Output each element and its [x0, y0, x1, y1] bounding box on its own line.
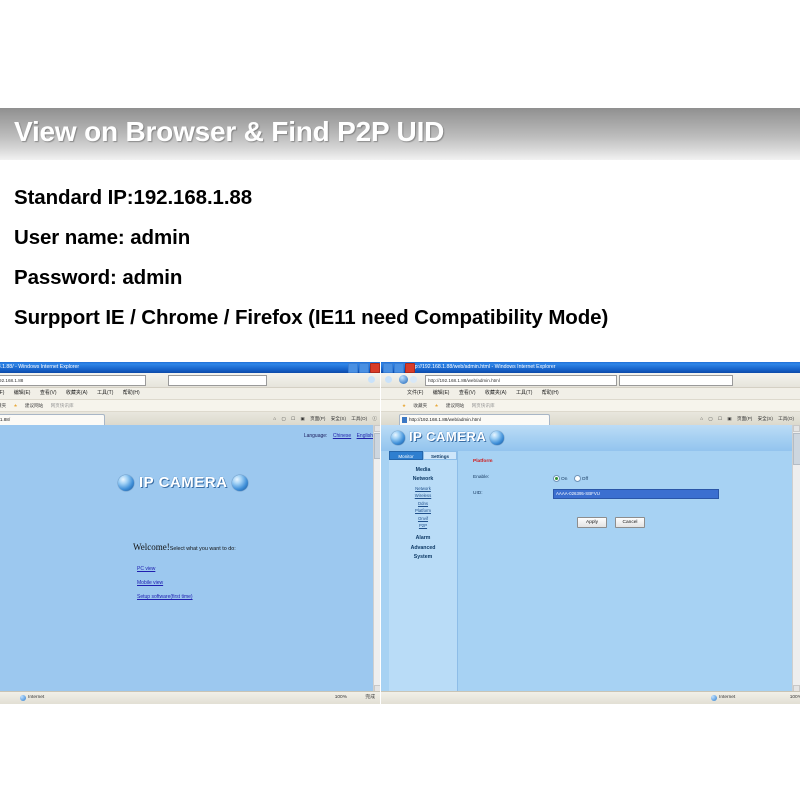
cancel-button[interactable]: Cancel: [615, 517, 645, 528]
menu-item-help[interactable]: 帮助(H): [119, 388, 144, 399]
welcome-rest: Select what you want to do:: [170, 546, 236, 552]
tab-label: 192.168.1.88/: [0, 417, 10, 422]
tab-favicon-icon-right: [402, 417, 407, 423]
forward-icon-right[interactable]: [410, 376, 417, 383]
uid-label: UID:: [473, 491, 483, 496]
right-status-bar: Internet 100%: [381, 691, 800, 704]
left-status-bar: Internet 100% 完成: [0, 691, 381, 704]
sidebar-tabs: Monitor Settings: [389, 451, 457, 460]
right-title-bar: http://192.168.1.88/web/admin.html - Win…: [381, 362, 800, 373]
right-window-controls[interactable]: [383, 363, 415, 373]
menu-item-help-right[interactable]: 帮助(H): [538, 388, 563, 399]
suggested-sites[interactable]: 建议网站: [22, 400, 46, 411]
cmd-safety-right[interactable]: 安全(S): [756, 416, 775, 421]
info-line-standard-ip: Standard IP:192.168.1.88: [14, 186, 794, 210]
left-menu-bar[interactable]: 文件(F) 编辑(E) 查看(V) 收藏夹(A) 工具(T) 帮助(H): [0, 388, 381, 400]
language-link-english[interactable]: English: [357, 433, 373, 439]
welcome-bold: Welcome!: [133, 542, 170, 552]
uid-input[interactable]: AAAA-026395-SBFVU: [553, 489, 719, 499]
star-icon-right-2: ★: [431, 400, 441, 411]
cmd-tools-right[interactable]: 工具(O): [776, 416, 796, 421]
radio-off[interactable]: [574, 475, 581, 482]
left-window-controls[interactable]: [348, 363, 380, 373]
left-title-bar: 168.1.88/ - Windows Internet Explorer: [0, 362, 381, 373]
menu-item-view[interactable]: 查看(V): [36, 388, 61, 399]
header-banner: View on Browser & Find P2P UID: [0, 108, 800, 160]
sidebar-subitem-network[interactable]: Network: [389, 486, 457, 491]
menu-item-favorites[interactable]: 收藏夹(A): [62, 388, 92, 399]
browser-tab-right[interactable]: http://192.168.1.88/web/admin.html: [399, 414, 550, 425]
menu-item-view-right[interactable]: 查看(V): [455, 388, 480, 399]
maximize-button-right[interactable]: [394, 363, 404, 373]
left-favorites-bar[interactable]: ★ 收藏夹 ★ 建议网站 网页快讯库: [0, 400, 381, 412]
scroll-up-icon-right[interactable]: [793, 425, 800, 432]
sidebar-subitem-ddns[interactable]: Ddns: [389, 501, 457, 506]
internet-zone-icon: [20, 695, 26, 701]
window-divider: [380, 362, 381, 704]
cmd-safety[interactable]: 安全(S): [329, 416, 348, 421]
language-label: Language:: [304, 433, 328, 439]
feeds-icon[interactable]: ▢: [279, 416, 287, 421]
right-tab-bar: http://192.168.1.88/web/admin.html ⌂ ▢ ☐…: [381, 412, 800, 426]
menu-item-edit[interactable]: 编辑(E): [10, 388, 35, 399]
info-line-username: User name: admin: [14, 226, 794, 250]
favorites-label[interactable]: 收藏夹: [0, 400, 9, 411]
search-icon-right[interactable]: [385, 376, 392, 383]
camera-sidebar: Monitor Settings Media Network Network W…: [389, 451, 458, 692]
right-page-viewport: IP CAMERA Monitor Settings Media Network…: [381, 425, 800, 692]
right-command-bar[interactable]: ⌂ ▢ ☐ ▣ 页面(P) 安全(S) 工具(O): [698, 414, 796, 424]
browser-window-right: http://192.168.1.88/web/admin.html - Win…: [381, 362, 800, 704]
internet-zone-icon-right: [711, 695, 717, 701]
info-line-password: Password: admin: [14, 266, 794, 290]
screenshot-strip: 168.1.88/ - Windows Internet Explorer ht…: [0, 362, 800, 704]
menu-item-file-right[interactable]: 文件(F): [403, 388, 427, 399]
language-link-chinese[interactable]: Chinese: [333, 433, 351, 439]
cmd-page[interactable]: 页面(P): [308, 416, 327, 421]
scroll-thumb-right[interactable]: [793, 433, 800, 465]
status-state: 完成: [365, 692, 375, 704]
link-pc-view[interactable]: PC view: [137, 566, 193, 572]
left-address-input[interactable]: http://192.168.1.88: [0, 375, 146, 386]
sidebar-subitem-p2p[interactable]: P2P: [389, 523, 457, 528]
ip-camera-logo-left: IP CAMERA: [118, 474, 248, 491]
link-setup-software[interactable]: Setup software(first time): [137, 594, 193, 600]
radio-on[interactable]: [553, 475, 560, 482]
info-line-browser-support: Surpport IE / Chrome / Firefox (IE11 nee…: [14, 306, 794, 330]
link-mobile-view[interactable]: Mobile view: [137, 580, 193, 586]
globe-icon-right-b: [490, 431, 504, 445]
web-slice-gallery[interactable]: 网页快讯库: [48, 400, 77, 411]
search-icon[interactable]: [368, 376, 375, 383]
close-icon-right[interactable]: [405, 363, 415, 373]
sidebar-item-alarm[interactable]: Alarm: [389, 535, 457, 541]
sidebar-item-media[interactable]: Media: [389, 467, 457, 473]
minimize-button-right[interactable]: [383, 363, 393, 373]
globe-icon-right-a: [391, 431, 405, 445]
left-address-bar: http://192.168.1.88: [0, 373, 381, 388]
tab-monitor[interactable]: Monitor: [389, 451, 423, 460]
right-menu-bar[interactable]: 文件(F) 编辑(E) 查看(V) 收藏夹(A) 工具(T) 帮助(H): [381, 388, 800, 400]
radio-on-label: On: [561, 477, 567, 482]
sidebar-subitem-wireless[interactable]: Wireless: [389, 493, 457, 498]
language-row: Language: Chinese English: [304, 433, 373, 439]
favorites-label-right[interactable]: 收藏夹: [410, 400, 430, 411]
menu-item-tools[interactable]: 工具(T): [93, 388, 117, 399]
sidebar-subitem-platform[interactable]: Platform: [389, 508, 457, 513]
left-command-bar[interactable]: ⌂ ▢ ☐ ▣ 页面(P) 安全(S) 工具(O) ⓘ: [271, 414, 379, 424]
right-vertical-scrollbar[interactable]: [792, 425, 800, 692]
print-icon[interactable]: ▣: [298, 416, 306, 421]
status-zone: Internet: [28, 692, 44, 704]
mail-icon[interactable]: ☐: [289, 416, 297, 421]
feeds-icon-right[interactable]: ▢: [706, 416, 714, 421]
welcome-text: Welcome!Select what you want to do:: [133, 542, 236, 552]
camera-body: Monitor Settings Media Network Network W…: [381, 451, 800, 692]
menu-item-edit-right[interactable]: 编辑(E): [429, 388, 454, 399]
sidebar-item-advanced[interactable]: Advanced: [389, 545, 457, 551]
status-zone-right: Internet: [719, 692, 735, 704]
cmd-page-right[interactable]: 页面(P): [735, 416, 754, 421]
welcome-links: PC view Mobile view Setup software(first…: [137, 566, 193, 608]
ip-camera-logo-text: IP CAMERA: [139, 474, 227, 491]
sidebar-item-network[interactable]: Network: [389, 476, 457, 482]
suggested-sites-right[interactable]: 建议网站: [443, 400, 467, 411]
tab-label-right: http://192.168.1.88/web/admin.html: [409, 417, 481, 422]
help-icon[interactable]: ⓘ: [370, 416, 379, 421]
globe-icon-right: [232, 475, 248, 491]
page-title: View on Browser & Find P2P UID: [14, 116, 444, 148]
left-page-viewport: Language: Chinese English IP CAMERA Welc…: [0, 425, 381, 692]
right-favorites-bar[interactable]: ★ 收藏夹 ★ 建议网站 网页快讯库: [381, 400, 800, 412]
browser-tab[interactable]: 192.168.1.88/: [0, 414, 105, 425]
menu-item-file[interactable]: 文件(F): [0, 388, 8, 399]
left-search-input[interactable]: [168, 375, 267, 386]
home-icon[interactable]: ⌂: [271, 416, 278, 421]
radio-off-label: Off: [582, 477, 588, 482]
info-block: Standard IP:192.168.1.88 User name: admi…: [14, 186, 794, 330]
menu-item-tools-right[interactable]: 工具(T): [512, 388, 536, 399]
print-icon-right[interactable]: ▣: [725, 416, 733, 421]
right-address-input[interactable]: http://192.168.1.88/web/admin.html: [425, 375, 617, 386]
apply-button[interactable]: Apply: [577, 517, 607, 528]
maximize-button[interactable]: [359, 363, 369, 373]
ip-camera-logo-text-right: IP CAMERA: [409, 429, 486, 444]
ip-camera-logo-right: IP CAMERA: [391, 429, 504, 445]
browser-window-left: 168.1.88/ - Windows Internet Explorer ht…: [0, 362, 381, 704]
close-icon[interactable]: [370, 363, 380, 373]
camera-header: IP CAMERA: [381, 425, 800, 452]
home-icon-right[interactable]: ⌂: [698, 416, 705, 421]
left-tab-bar: 192.168.1.88/ ⌂ ▢ ☐ ▣ 页面(P) 安全(S) 工具(O) …: [0, 412, 381, 426]
sidebar-item-system[interactable]: System: [389, 554, 457, 560]
mail-icon-right[interactable]: ☐: [716, 416, 724, 421]
minimize-button[interactable]: [348, 363, 358, 373]
platform-settings-form: Platform Enable: On Off UID: AAAA-026395…: [465, 451, 794, 692]
status-zoom-level[interactable]: 100%: [335, 692, 347, 704]
globe-icon-left: [118, 475, 134, 491]
back-icon-right[interactable]: [399, 375, 408, 384]
left-title-text: 168.1.88/ - Windows Internet Explorer: [0, 362, 79, 373]
slide-page: View on Browser & Find P2P UID Standard …: [0, 0, 800, 800]
enable-radio-group[interactable]: On Off: [553, 475, 588, 482]
tab-settings[interactable]: Settings: [423, 451, 457, 460]
right-search-input[interactable]: [619, 375, 733, 386]
enable-label: Enable:: [473, 475, 489, 480]
right-address-bar: http://192.168.1.88/web/admin.html: [381, 373, 800, 388]
form-section-title: Platform: [473, 459, 492, 464]
sidebar-menu: Media Network Network Wireless Ddns Plat…: [389, 463, 457, 564]
menu-item-favorites-right[interactable]: 收藏夹(A): [481, 388, 511, 399]
cmd-tools[interactable]: 工具(O): [349, 416, 369, 421]
web-slice-gallery-right[interactable]: 网页快讯库: [469, 400, 498, 411]
sidebar-subitem-onvif[interactable]: Onvif: [389, 516, 457, 521]
star-icon-2: ★: [10, 400, 20, 411]
status-zoom-level-right[interactable]: 100%: [790, 692, 800, 704]
right-title-text: http://192.168.1.88/web/admin.html - Win…: [409, 362, 555, 373]
star-icon-right: ★: [399, 400, 409, 411]
